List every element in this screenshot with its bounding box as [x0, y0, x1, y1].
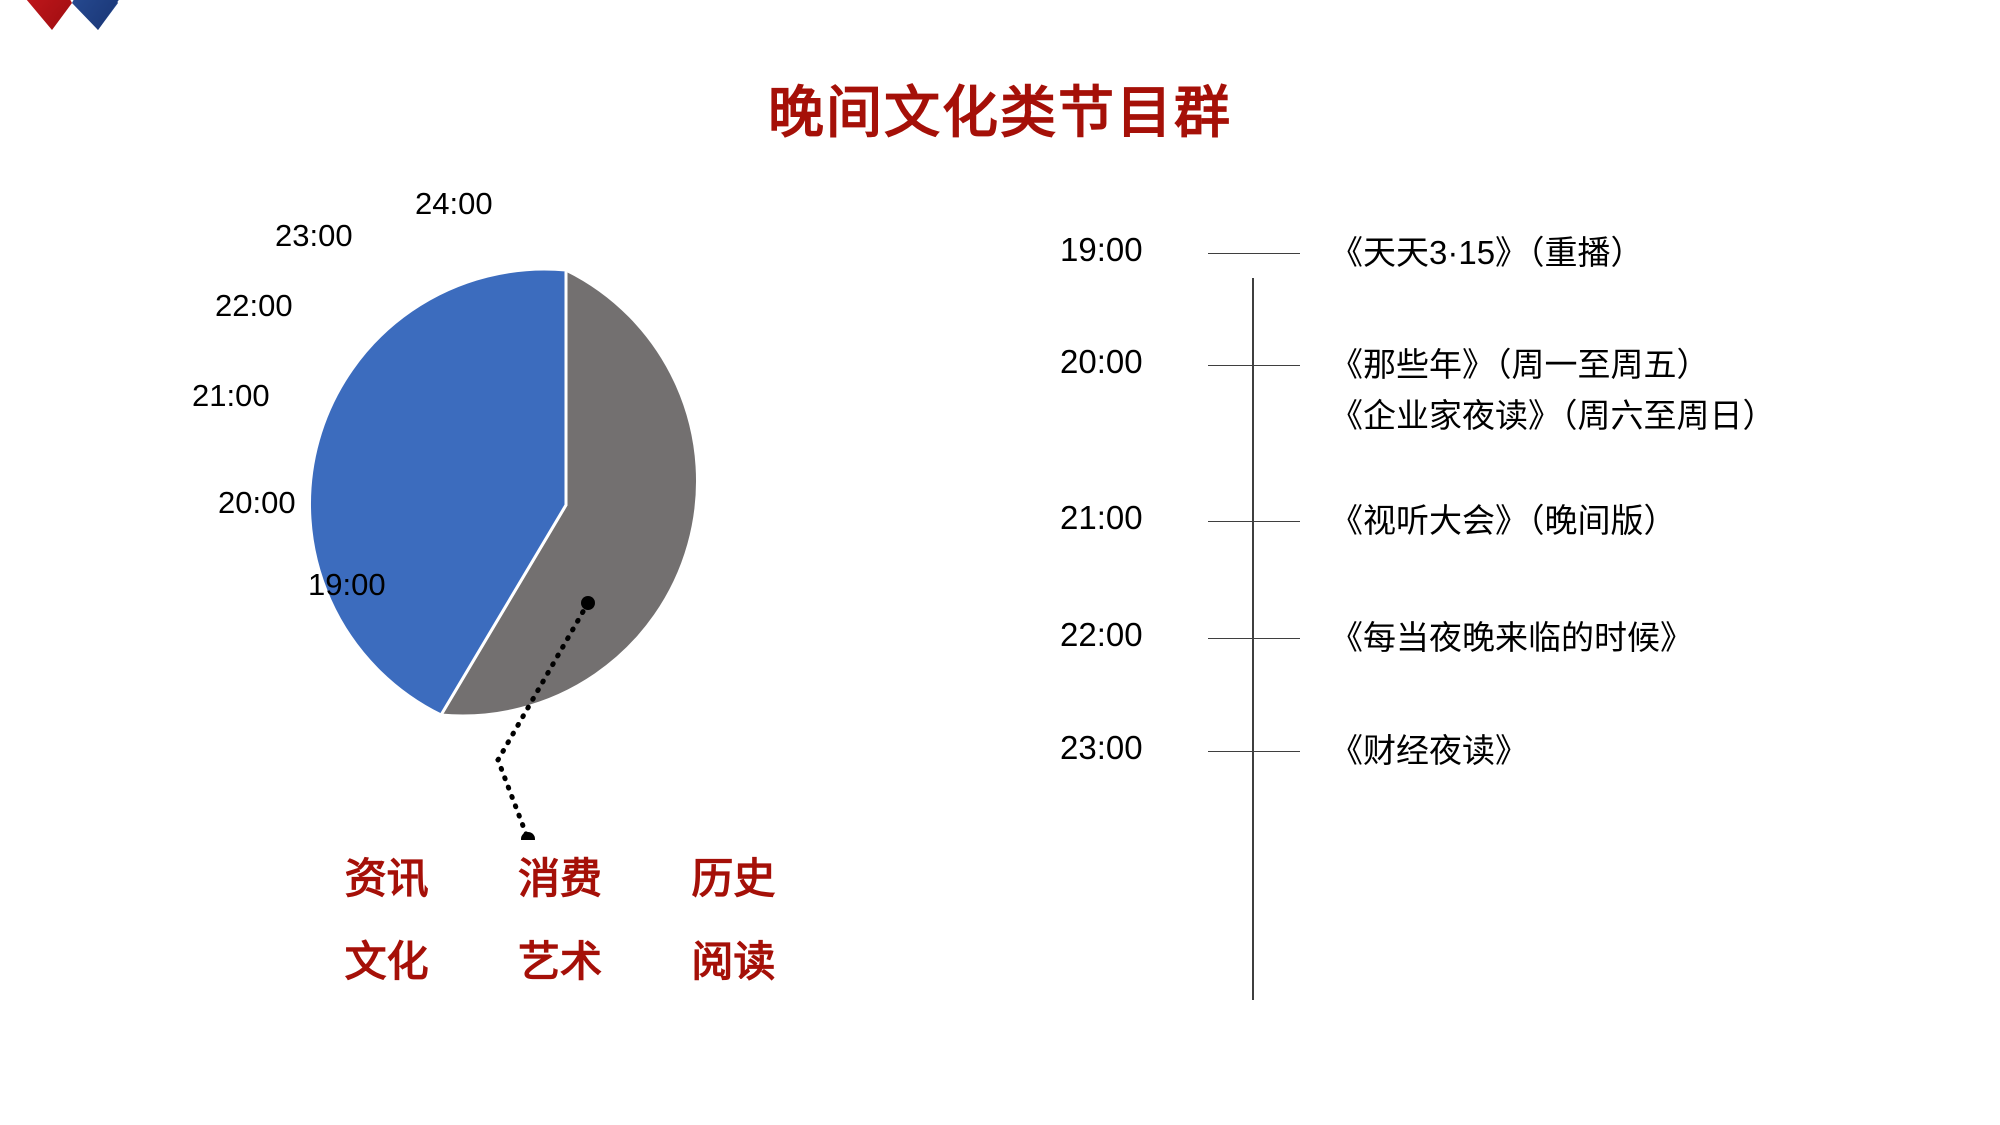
timeline-time-2200: 22:00	[1060, 616, 1200, 654]
timeline-tick-2000	[1208, 365, 1300, 366]
schedule-timeline: 19:00 《天天3·15》（重播） 20:00 《那些年》（周一至周五） 《企…	[1040, 250, 1940, 1030]
program-item: 《视听大会》（晚间版）	[1330, 495, 1950, 546]
timeline-row-1900: 19:00 《天天3·15》（重播）	[1040, 253, 1940, 255]
pie-chart: 24:00 23:00 22:00 21:00 20:00 19:00	[240, 200, 920, 840]
category-zixun: 资讯	[300, 845, 473, 906]
timeline-time-2100: 21:00	[1060, 499, 1200, 537]
timeline-row-2100: 21:00 《视听大会》（晚间版）	[1040, 521, 1940, 523]
program-item: 《天天3·15》（重播）	[1330, 227, 1950, 278]
timeline-time-1900: 19:00	[1060, 231, 1200, 269]
callout-marker-outer	[521, 832, 535, 840]
pie-label-2300: 23:00	[275, 218, 353, 254]
pie-label-2400: 24:00	[415, 186, 493, 222]
timeline-time-2300: 23:00	[1060, 729, 1200, 767]
program-item: 《那些年》（周一至周五）	[1330, 339, 1950, 390]
category-yuedu: 阅读	[647, 928, 820, 989]
category-row: 文化 艺术 阅读	[300, 928, 820, 989]
timeline-tick-2300	[1208, 751, 1300, 752]
callout-marker-inner	[581, 596, 595, 610]
timeline-programs-2300: 《财经夜读》	[1330, 725, 1950, 776]
category-row: 资讯 消费 历史	[300, 845, 820, 906]
timeline-programs-2000: 《那些年》（周一至周五） 《企业家夜读》（周六至周日）	[1330, 339, 1950, 441]
pie-label-2100: 21:00	[192, 378, 270, 414]
timeline-programs-2100: 《视听大会》（晚间版）	[1330, 495, 1950, 546]
pie-label-1900: 19:00	[308, 567, 386, 603]
pie-label-2000: 20:00	[218, 485, 296, 521]
timeline-tick-2100	[1208, 521, 1300, 522]
pie-chart-svg	[240, 200, 920, 840]
timeline-programs-1900: 《天天3·15》（重播）	[1330, 227, 1950, 278]
category-wenhua: 文化	[300, 928, 473, 989]
program-item: 《每当夜晚来临的时候》	[1330, 612, 1950, 663]
timeline-row-2200: 22:00 《每当夜晚来临的时候》	[1040, 638, 1940, 640]
program-item: 《财经夜读》	[1330, 725, 1950, 776]
category-keyword-grid: 资讯 消费 历史 文化 艺术 阅读	[300, 845, 820, 1011]
timeline-programs-2200: 《每当夜晚来临的时候》	[1330, 612, 1950, 663]
timeline-tick-1900	[1208, 253, 1300, 254]
page-title: 晚间文化类节目群	[0, 68, 2000, 149]
timeline-tick-2200	[1208, 638, 1300, 639]
slide-canvas: 晚间文化类节目群 24:00 23:00 22:00 21:00 20:00 1…	[0, 0, 2000, 1125]
category-yishu: 艺术	[473, 928, 646, 989]
timeline-row-2000: 20:00 《那些年》（周一至周五） 《企业家夜读》（周六至周日）	[1040, 365, 1940, 367]
timeline-row-2300: 23:00 《财经夜读》	[1040, 751, 1940, 753]
pie-label-2200: 22:00	[215, 288, 293, 324]
brand-logo-w	[0, 0, 210, 68]
category-xiaofei: 消费	[473, 845, 646, 906]
timeline-time-2000: 20:00	[1060, 343, 1200, 381]
program-item: 《企业家夜读》（周六至周日）	[1330, 390, 1950, 441]
category-lishi: 历史	[647, 845, 820, 906]
